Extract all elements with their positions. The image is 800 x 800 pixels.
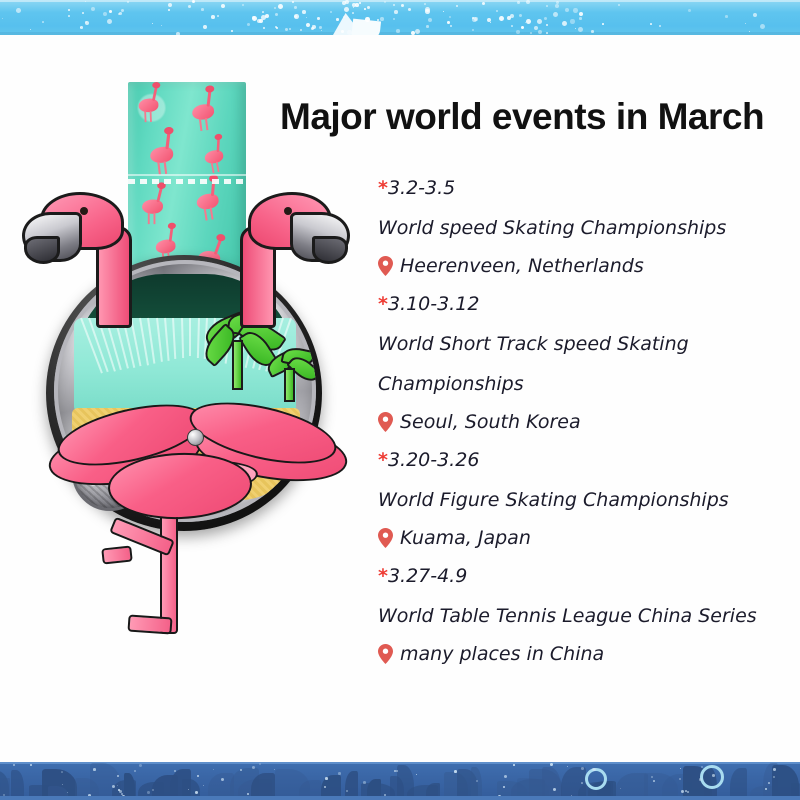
- bubble-speck: [213, 769, 214, 770]
- event-location: many places in China: [378, 636, 778, 672]
- bubble-speck: [13, 764, 15, 766]
- water-ray: [172, 318, 176, 359]
- bubble-speck: [581, 767, 584, 770]
- bubble-speck: [503, 786, 505, 788]
- event-list: *3.2-3.5 World speed Skating Championshi…: [378, 168, 778, 672]
- bubble-speck: [701, 766, 703, 768]
- event-date: *3.10-3.12: [378, 284, 778, 324]
- palm-tree-small-icon: [266, 348, 316, 402]
- bubble-speck: [651, 776, 653, 778]
- flamingo-head-right: [222, 188, 350, 296]
- bubble-speck: [67, 792, 68, 793]
- bubble-speck: [117, 775, 119, 777]
- location-pin-icon: [378, 644, 393, 664]
- event-location: Heerenveen, Netherlands: [378, 248, 778, 284]
- event-location: Seoul, South Korea: [378, 404, 778, 440]
- bubble-speck: [681, 790, 684, 793]
- water-ray: [189, 318, 191, 356]
- location-pin-icon: [378, 256, 393, 276]
- bubble-speck: [188, 789, 189, 790]
- flamingo-head-left: [22, 188, 150, 296]
- water-ray: [181, 318, 184, 358]
- bubble-speck: [680, 768, 681, 769]
- event-date-text: 3.2-3.5: [388, 177, 455, 199]
- bubble-speck: [152, 789, 154, 791]
- bubble-icon: [585, 768, 607, 790]
- event-date: *3.20-3.26: [378, 440, 778, 480]
- bubble-speck: [147, 791, 150, 794]
- bubble-speck: [567, 766, 568, 767]
- bubble-speck: [504, 775, 507, 778]
- bubble-speck: [699, 778, 702, 781]
- location-pin-icon: [378, 528, 393, 548]
- bubble-speck: [139, 764, 142, 767]
- water-ray: [196, 318, 199, 358]
- event-name: World speed Skating Championships: [378, 208, 778, 248]
- flamingo-foot-front: [127, 614, 172, 634]
- bottom-band-highlight: [0, 762, 800, 764]
- bubble-speck: [685, 790, 687, 792]
- bubble-icon: [700, 765, 724, 789]
- event-location-text: Kuama, Japan: [400, 520, 531, 556]
- bubble-speck: [765, 788, 767, 790]
- event-item: *3.20-3.26 World Figure Skating Champion…: [378, 440, 778, 556]
- event-item: *3.2-3.5 World speed Skating Championshi…: [378, 168, 778, 284]
- bubble-speck: [653, 780, 655, 782]
- poster-canvas: Virtual Runner: [0, 0, 800, 800]
- event-location: Kuama, Japan: [378, 520, 778, 556]
- event-date: *3.2-3.5: [378, 168, 778, 208]
- asterisk-marker: *: [378, 565, 388, 587]
- bubble-speck: [454, 770, 457, 773]
- bubble-speck: [550, 763, 553, 766]
- water-ray: [164, 318, 170, 361]
- palm-trunk: [284, 368, 295, 402]
- bubble-speck: [768, 782, 770, 784]
- location-pin-icon: [378, 412, 393, 432]
- top-band-highlight: [0, 0, 800, 2]
- event-name-continued: Championships: [378, 364, 778, 404]
- bubble-speck: [712, 774, 715, 777]
- asterisk-marker: *: [378, 293, 388, 315]
- flamingo-eye: [80, 207, 88, 215]
- asterisk-marker: *: [378, 449, 388, 471]
- bubble-speck: [61, 771, 63, 773]
- top-band-shadow: [0, 32, 800, 35]
- bottom-band-base: [0, 796, 800, 800]
- bubble-speck: [476, 780, 478, 782]
- event-item: *3.10-3.12 World Short Track speed Skati…: [378, 284, 778, 440]
- bubble-speck: [325, 777, 328, 780]
- flamingo-medal-photo: Virtual Runner: [10, 60, 360, 660]
- bubble-speck: [773, 768, 776, 771]
- flamingo-beak-tip: [312, 236, 348, 264]
- bubble-speck: [117, 785, 118, 786]
- ribbon-stitch-line-upper: [128, 174, 246, 176]
- top-ocean-band: [0, 0, 800, 35]
- event-name: World Figure Skating Championships: [378, 480, 778, 520]
- bubble-speck: [553, 788, 556, 791]
- bubble-speck: [259, 763, 261, 765]
- bubble-speck: [203, 785, 204, 786]
- bubble-speck: [338, 772, 341, 775]
- bubble-speck: [416, 774, 417, 775]
- medal-center-rivet: [187, 429, 204, 446]
- event-item: *3.27-4.9 World Table Tennis League Chin…: [378, 556, 778, 672]
- event-date-text: 3.20-3.26: [388, 449, 479, 471]
- water-ray: [156, 318, 163, 362]
- bubble-speck: [513, 764, 515, 766]
- palm-trunk: [232, 340, 243, 390]
- bubble-speck: [620, 788, 621, 789]
- flamingo-foot-rear: [101, 545, 133, 564]
- bubble-speck: [592, 768, 595, 771]
- bubble-speck: [363, 781, 366, 784]
- bubble-speck: [30, 764, 32, 766]
- flamingo-beak-tip: [24, 236, 60, 264]
- ribbon-stitch-line: [128, 179, 246, 184]
- event-name: World Short Track speed Skating: [378, 324, 778, 364]
- event-location-text: Heerenveen, Netherlands: [400, 248, 644, 284]
- bubble-speck: [93, 768, 96, 771]
- bubble-speck: [197, 775, 199, 777]
- event-date: *3.27-4.9: [378, 556, 778, 596]
- water-ray: [147, 318, 155, 364]
- event-name: World Table Tennis League China Series: [378, 596, 778, 636]
- page-title: Major world events in March: [280, 96, 764, 138]
- event-location-text: many places in China: [400, 636, 604, 672]
- flamingo-eye: [284, 207, 292, 215]
- event-location-text: Seoul, South Korea: [400, 404, 581, 440]
- bottom-seaweed-band: [0, 762, 800, 800]
- event-date-text: 3.10-3.12: [388, 293, 479, 315]
- bubble-speck: [581, 782, 583, 784]
- bubble-speck: [134, 770, 136, 772]
- asterisk-marker: *: [378, 177, 388, 199]
- event-date-text: 3.27-4.9: [388, 565, 467, 587]
- flamingo-body: [48, 405, 340, 525]
- bubble-speck: [195, 791, 198, 794]
- bubble-speck: [252, 766, 255, 769]
